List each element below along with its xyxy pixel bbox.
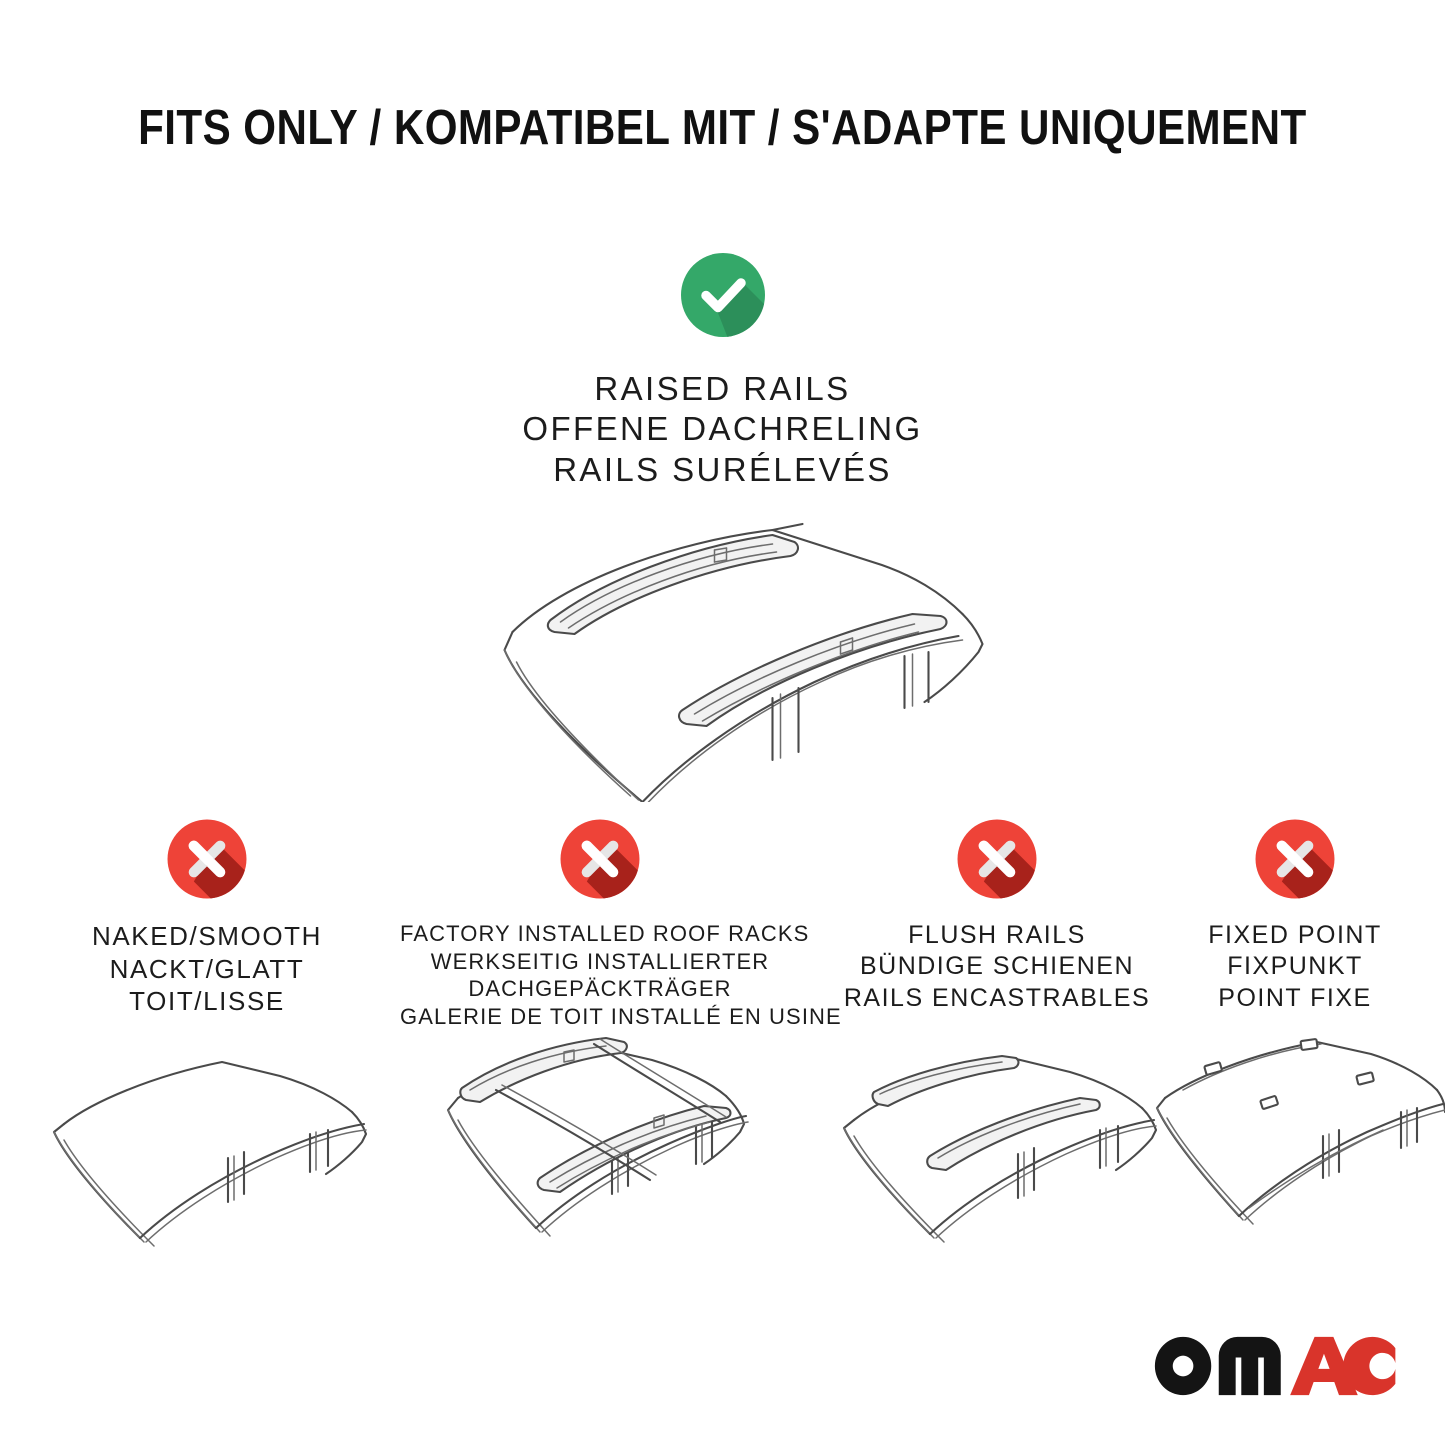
incompatible-labels-naked-smooth: NAKED/SMOOTH NACKT/GLATT TOIT/LISSE [22,920,392,1018]
label-en: FLUSH RAILS [812,920,1182,951]
label-de: NACKT/GLATT [22,953,392,986]
label-fr: GALERIE DE TOIT INSTALLÉ EN USINE [400,1003,800,1031]
incompatible-section: NAKED/SMOOTH NACKT/GLATT TOIT/LISSE [0,812,1445,1282]
compatible-section: RAISED RAILS OFFENE DACHRELING RAILS SUR… [0,245,1445,802]
x-circle-icon-svg [1248,812,1342,906]
page-title-text: FITS ONLY / KOMPATIBEL MIT / S'ADAPTE UN… [138,104,1307,153]
label-de: BÜNDIGE SCHIENEN [812,951,1182,982]
incompatible-item-factory-installed-roof-racks: FACTORY INSTALLED ROOF RACKS WERKSEITIG … [400,812,800,1272]
label-fr: POINT FIXE [1145,983,1445,1014]
x-circle-icon-svg [950,812,1044,906]
label-fr: TOIT/LISSE [22,985,392,1018]
compatible-labels: RAISED RAILS OFFENE DACHRELING RAILS SUR… [0,369,1445,490]
check-circle-icon [673,245,773,345]
x-circle-icon [950,812,1044,906]
compatible-label-de: OFFENE DACHRELING [0,409,1445,449]
car-roof-flush-rails-svg [812,1028,1182,1268]
omac-logo-svg [1153,1335,1397,1397]
logo-letter-m [1219,1337,1281,1395]
incompatible-item-fixed-point: FIXED POINT FIXPUNKT POINT FIXE [1145,812,1445,1268]
car-roof-factory-racks-svg [400,1032,800,1272]
logo-letter-o [1155,1337,1211,1395]
car-roof-naked-svg [22,1032,392,1272]
label-en: FACTORY INSTALLED ROOF RACKS [400,920,800,948]
car-roof-naked-diagram [22,1032,392,1272]
car-roof-raised-rails-svg [0,502,1445,802]
label-en: NAKED/SMOOTH [22,920,392,953]
incompatible-item-flush-rails: FLUSH RAILS BÜNDIGE SCHIENEN RAILS ENCAS… [812,812,1182,1268]
x-circle-icon-svg [160,812,254,906]
label-en: FIXED POINT [1145,920,1445,951]
incompatible-labels-fixed-point: FIXED POINT FIXPUNKT POINT FIXE [1145,920,1445,1014]
x-circle-icon [1248,812,1342,906]
car-roof-raised-rails-diagram [0,502,1445,802]
x-circle-icon [160,812,254,906]
label-de-1: WERKSEITIG INSTALLIERTER [400,948,800,976]
check-circle-icon-svg [673,245,773,345]
label-de: FIXPUNKT [1145,951,1445,982]
car-roof-factory-racks-diagram [400,1032,800,1272]
label-de-2: DACHGEPÄCKTRÄGER [400,975,800,1003]
car-roof-fixed-point-diagram [1145,1028,1445,1268]
x-circle-icon [553,812,647,906]
page-title: FITS ONLY / KOMPATIBEL MIT / S'ADAPTE UN… [0,104,1445,153]
car-roof-flush-rails-diagram [812,1028,1182,1268]
incompatible-labels-flush-rails: FLUSH RAILS BÜNDIGE SCHIENEN RAILS ENCAS… [812,920,1182,1014]
label-fr: RAILS ENCASTRABLES [812,983,1182,1014]
car-roof-fixed-point-svg [1145,1028,1445,1268]
incompatible-item-naked-smooth: NAKED/SMOOTH NACKT/GLATT TOIT/LISSE [22,812,392,1272]
compatible-label-en: RAISED RAILS [0,369,1445,409]
x-circle-icon-svg [553,812,647,906]
compatible-label-fr: RAILS SURÉLEVÉS [0,450,1445,490]
incompatible-labels-factory-racks: FACTORY INSTALLED ROOF RACKS WERKSEITIG … [400,920,800,1030]
brand-logo [1153,1335,1397,1397]
